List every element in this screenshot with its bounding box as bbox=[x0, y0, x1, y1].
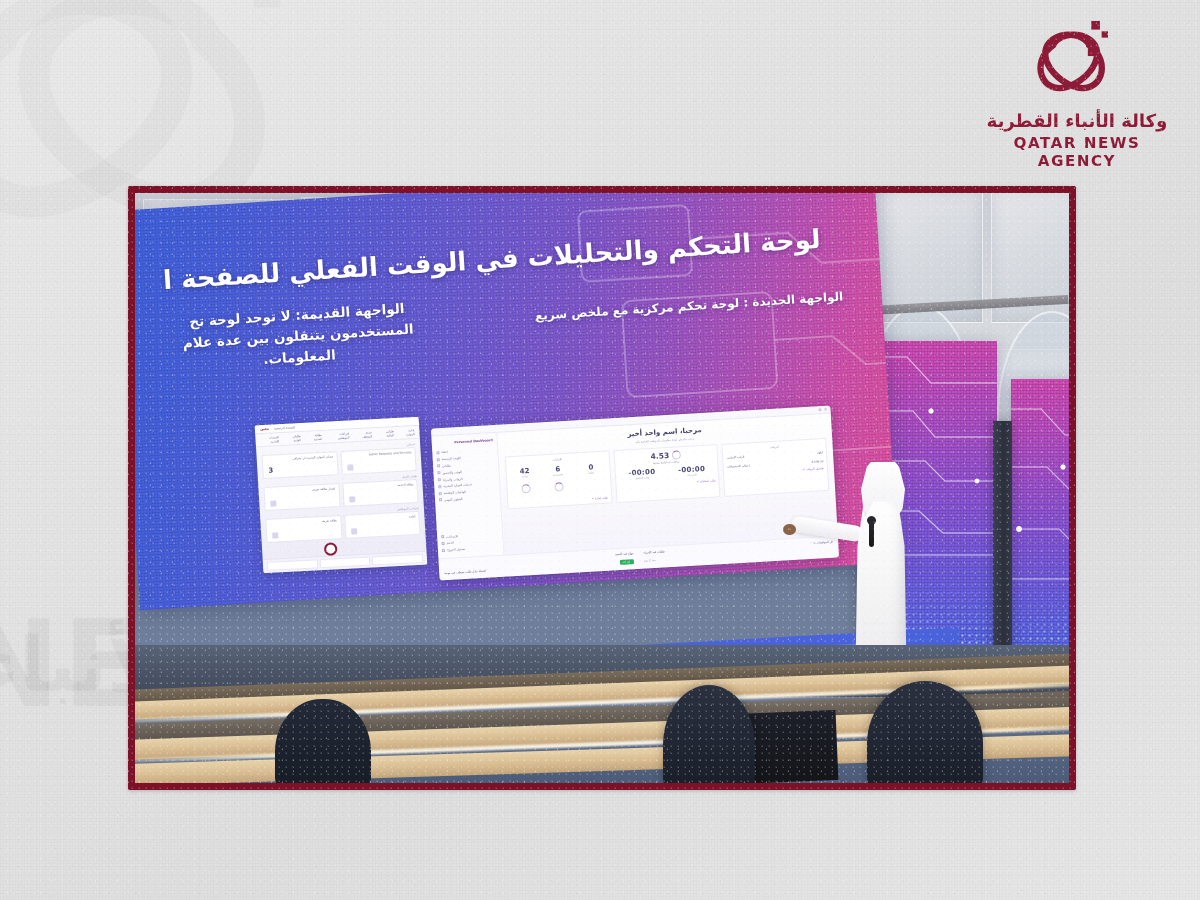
salary-total-label: إجمالي الاستحقاقات bbox=[727, 463, 750, 468]
sidebar-item-label: التطوير المهني bbox=[444, 497, 463, 502]
sidebar-item-label: الرواتب والمزايا bbox=[443, 476, 463, 481]
badge-icon bbox=[349, 496, 355, 502]
sidebar-item-label: تسجيل الخروج bbox=[447, 547, 466, 552]
sidebar-item-label: الوقت والحضور bbox=[442, 470, 462, 475]
qna-logo: وكالة الأنباء القطرية QATAR NEWS AGENCY bbox=[982, 14, 1172, 164]
old-ui-footer-tab[interactable] bbox=[372, 554, 423, 566]
photo-image: لوحة التحكم والتحليلات في الوقت الفعلي ل… bbox=[135, 193, 1069, 783]
old-ui-tab[interactable]: إجراءات الموظفين bbox=[328, 431, 350, 440]
old-ui-tile-title: إصدار بطاقة تعريف bbox=[268, 487, 336, 494]
old-ui-tile[interactable]: إجازة bbox=[344, 511, 421, 539]
sidebar-item-label: الدعم bbox=[446, 541, 453, 545]
salary-basic-label: الراتب الأساسي bbox=[726, 454, 744, 459]
old-ui-tab[interactable]: طلباتي المالية bbox=[378, 429, 394, 438]
attendance-hours-value: 4.53 bbox=[650, 450, 669, 460]
growth-icon bbox=[439, 498, 442, 501]
leave-pending-label: معلقة bbox=[576, 470, 606, 475]
card-icon bbox=[270, 500, 276, 506]
dashboard-main: مرحبا، اسم واحد أخير نرحب بكم في لوحة مع… bbox=[497, 414, 839, 577]
old-ui-tile[interactable]: Admin Requests and Services bbox=[340, 447, 417, 475]
old-ui-tab[interactable]: الخدمات الإدارية bbox=[260, 435, 279, 444]
qna-name-english: QATAR NEWS AGENCY bbox=[982, 134, 1172, 170]
donut-icon bbox=[554, 482, 564, 492]
new-dashboard-mockup: مرحبا، اسم واحد أخير نرحب بكم في لوحة مع… bbox=[431, 406, 839, 581]
sidebar-item-label: الواجبات الوظيفية bbox=[444, 490, 466, 495]
led-new-line1: الواجهة الجديدة : لوحة تحكم مركزية مع مل… bbox=[522, 287, 856, 327]
old-ui-tile[interactable]: بطاقة تعريف bbox=[265, 515, 342, 543]
help-icon bbox=[442, 542, 445, 545]
old-ui-tab[interactable]: إدارة الموارد bbox=[400, 428, 415, 437]
old-ui-tile[interactable]: مصادر الموارد البشرية لي وفراقي 3 bbox=[261, 451, 338, 479]
old-ui-tile-title: مصادر الموارد البشرية لي وفراقي bbox=[266, 455, 334, 462]
old-ui-tile-title: Admin Requests and Services bbox=[344, 451, 412, 458]
search-icon[interactable] bbox=[818, 408, 821, 411]
sidebar-collapse-label: إخفاء bbox=[441, 450, 448, 454]
old-ui-brand: معين bbox=[260, 427, 269, 431]
logout-icon bbox=[442, 549, 445, 552]
old-ui-tab[interactable]: خدمة الموظف bbox=[355, 430, 372, 439]
sidebar-item-label: طلباتي bbox=[442, 464, 451, 468]
stage-pillar-2 bbox=[993, 421, 1012, 683]
leave-stat-used: 6 مستخدمة bbox=[542, 464, 574, 496]
leave-used-label: مستخدمة bbox=[543, 472, 573, 477]
leave-card: الإجازات 0 معلقة 6 مستخدمة bbox=[505, 450, 613, 509]
old-ui-tile[interactable]: بطاقة الخدمة bbox=[342, 479, 419, 507]
page-root: NEWS AGENCY الأنباء وكالة الأنباء القطري… bbox=[0, 0, 1200, 900]
microphone-icon bbox=[869, 521, 874, 547]
moon-icon bbox=[672, 450, 682, 460]
check-in-stat: 00:00- وقت الحضور bbox=[618, 467, 665, 481]
home-icon bbox=[437, 458, 440, 461]
old-ui-tile[interactable]: إصدار بطاقة تعريف bbox=[263, 483, 340, 511]
old-ui-tile-title: بطاقة الخدمة bbox=[346, 483, 414, 490]
leave-icon bbox=[351, 528, 357, 534]
people-icon bbox=[438, 485, 441, 488]
qna-name-arabic: وكالة الأنباء القطرية bbox=[982, 111, 1172, 132]
salary-card: الرواتب إظهار الراتب الأساسي 4,538.33 إج… bbox=[722, 437, 830, 496]
qna-atom-logo-icon bbox=[1020, 14, 1135, 109]
salary-toggle[interactable]: إظهار bbox=[817, 450, 823, 454]
pie-icon bbox=[521, 484, 531, 494]
presenter-hand bbox=[783, 524, 796, 535]
old-ui-tile-title: بطاقة تعريف bbox=[270, 519, 338, 526]
list-icon bbox=[437, 465, 440, 468]
old-ui-tab[interactable]: طلباتي العامة bbox=[285, 434, 301, 443]
sidebar-item-label: اللوحة الرئيسية bbox=[442, 456, 461, 461]
requests-panel-title: طلبات قيد الإجراء bbox=[643, 549, 665, 554]
old-interface-mockup: الصفحة الرئيسية معين إدارة الموارد طلبات… bbox=[255, 417, 428, 573]
back-icon[interactable] bbox=[824, 408, 827, 411]
photo-card: لوحة التحكم والتحليلات في الوقت الفعلي ل… bbox=[128, 186, 1076, 790]
led-panel-right-2 bbox=[1011, 379, 1069, 679]
old-ui-home-tab[interactable]: الصفحة الرئيسية bbox=[274, 425, 296, 430]
leave-stat-available: 42 متاحة bbox=[509, 466, 541, 498]
old-ui-tile-value: 3 bbox=[268, 467, 273, 475]
clock-icon bbox=[437, 471, 440, 474]
old-ui-footer-tab[interactable] bbox=[267, 559, 318, 571]
old-ui-tab[interactable]: بطاقة الخدمة bbox=[306, 433, 322, 442]
grid-icon bbox=[347, 464, 353, 470]
salary-total-value: 4,538.33 bbox=[811, 459, 823, 464]
task-item-text: اقضاء خلال طلب موظف في مهمة bbox=[444, 568, 486, 574]
check-out-stat: 00:00- الانصراف bbox=[668, 464, 715, 478]
wallet-icon bbox=[438, 478, 441, 481]
sidebar-item-label: الإعدادات bbox=[446, 534, 458, 539]
leave-stat-pending: 0 معلقة bbox=[576, 462, 608, 494]
task-action-button[interactable]: إجراء bbox=[620, 559, 634, 565]
attendance-card: 4.53 ساعات استثنائية متبقية 00:00- الانص… bbox=[613, 444, 721, 503]
support-chat-icon[interactable] bbox=[324, 542, 338, 556]
id-icon bbox=[272, 532, 278, 538]
leave-available-label: متاحة bbox=[510, 474, 540, 479]
led-column-old-interface: الواجهة القديمة: لا توجد لوحة تح المستخد… bbox=[135, 295, 467, 379]
tasks-icon bbox=[439, 492, 442, 495]
gear-icon bbox=[441, 535, 444, 538]
collapse-icon bbox=[436, 451, 439, 454]
old-ui-tile-title: إجازة bbox=[348, 515, 416, 522]
dashboard-window-title: Personnel Dashboard bbox=[436, 438, 493, 445]
old-ui-footer-tab[interactable] bbox=[319, 557, 370, 569]
